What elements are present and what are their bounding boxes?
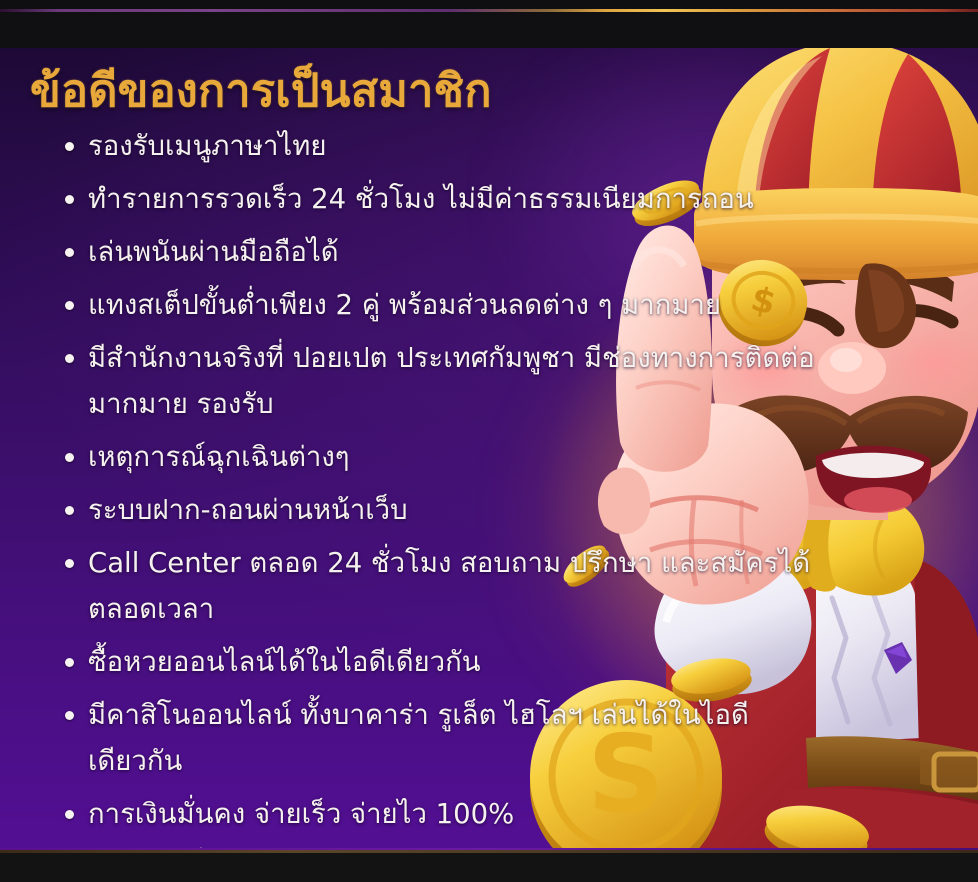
bottom-accent-rule xyxy=(0,850,978,853)
bottom-black-band xyxy=(0,852,978,882)
list-item: ทำรายการรวดเร็ว 24 ชั่วโมง ไม่มีค่าธรรมเ… xyxy=(48,176,838,222)
list-item: Call Center ตลอด 24 ชั่วโมง สอบถาม ปรึกษ… xyxy=(48,540,838,632)
list-item: ระบบฝาก-ถอนผ่านหน้าเว็บ xyxy=(48,487,838,533)
list-item: แทงสเต็ปขั้นต่ำเพียง 2 คู่ พร้อมส่วนลดต่… xyxy=(48,282,838,328)
list-item: มีคาสิโนออนไลน์ ทั้งบาคาร่า รูเล็ต ไฮโลฯ… xyxy=(48,692,838,784)
benefits-list: รองรับเมนูภาษาไทย ทำรายการรวดเร็ว 24 ชั่… xyxy=(48,123,838,882)
top-black-band-inner xyxy=(0,12,978,48)
list-item: รองรับเมนูภาษาไทย xyxy=(48,123,838,169)
banner-content: ข้อดีของการเป็นสมาชิก รองรับเมนูภาษาไทย … xyxy=(0,48,978,852)
list-item: เล่นพนันผ่านมือถือได้ xyxy=(48,229,838,275)
list-item: เหตุการณ์ฉุกเฉินต่างๆ xyxy=(48,434,838,480)
list-item: การเงินมั่นคง จ่ายเร็ว จ่ายไว 100% xyxy=(48,791,838,837)
list-item: มีสำนักงานจริงที่ ปอยเปต ประเทศกัมพูชา ม… xyxy=(48,335,838,427)
list-item: ซื้อหวยออนไลน์ได้ในไอดีเดียวกัน xyxy=(48,639,838,685)
page-title: ข้อดีของการเป็นสมาชิก xyxy=(30,54,492,126)
promo-banner: $ S xyxy=(0,0,978,882)
